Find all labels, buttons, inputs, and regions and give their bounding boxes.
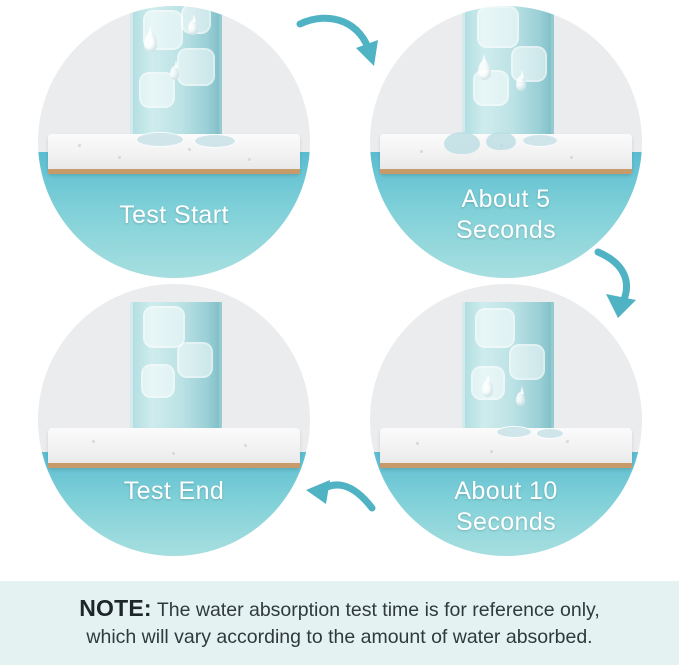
stage-label-about-5-seconds: About 5 Seconds — [370, 184, 642, 246]
stage-test-end: Test End — [38, 284, 310, 556]
water-puddle-icon — [536, 428, 564, 439]
note-label: NOTE: — [79, 595, 152, 621]
glass-icon — [130, 302, 222, 434]
ice-cube-icon — [143, 306, 185, 348]
water-puddle-icon — [522, 134, 558, 147]
ice-cube-icon — [141, 364, 175, 398]
stage-label-line: Seconds — [370, 215, 642, 246]
ice-cube-icon — [509, 344, 545, 380]
water-puddle-icon — [194, 134, 236, 148]
note-line-1: NOTE: The water absorption test time is … — [79, 595, 600, 624]
glass-icon — [462, 302, 554, 434]
note-text-line-1: The water absorption test time is for re… — [157, 599, 600, 621]
stage-label-line: Test Start — [38, 200, 310, 231]
note-line-2: which will vary according to the amount … — [79, 624, 600, 651]
stage-about-5-seconds: About 5 Seconds — [370, 6, 642, 278]
absorbed-water-patch — [444, 132, 480, 154]
slab-edge — [48, 169, 300, 174]
ice-cube-icon — [511, 46, 547, 82]
stage-label-test-start: Test Start — [38, 200, 310, 231]
arrow-top — [296, 14, 382, 80]
stage-label-line: Test End — [38, 476, 310, 507]
stage-label-line: Seconds — [370, 507, 642, 538]
ice-cube-icon — [475, 308, 515, 348]
water-drop-icon — [516, 392, 525, 406]
water-puddle-icon — [496, 426, 532, 438]
stage-test-start: Test Start — [38, 6, 310, 278]
water-drop-icon — [516, 76, 526, 91]
stage-label-test-end: Test End — [38, 476, 310, 507]
slab-edge — [380, 463, 632, 468]
countertop-slab — [48, 428, 300, 468]
note-bar: NOTE: The water absorption test time is … — [0, 581, 679, 665]
water-drop-icon — [170, 66, 179, 80]
slab-edge — [380, 169, 632, 174]
stage-label-line: About 10 — [370, 476, 642, 507]
glass-icon — [462, 6, 554, 146]
water-drop-icon — [482, 380, 493, 397]
water-drop-icon — [144, 32, 157, 52]
water-drop-icon — [188, 20, 198, 35]
absorbed-water-patch — [486, 132, 516, 150]
stage-label-about-10-seconds: About 10 Seconds — [370, 476, 642, 538]
stage-label-line: About 5 — [370, 184, 642, 215]
water-drop-icon — [478, 60, 491, 80]
slab-edge — [48, 463, 300, 468]
note-inner: NOTE: The water absorption test time is … — [65, 595, 614, 651]
arrow-bottom — [300, 470, 378, 518]
water-puddle-icon — [136, 132, 184, 147]
arrow-right — [588, 246, 650, 326]
stage-grid: Test Start About 5 Seconds — [0, 0, 679, 560]
ice-cube-icon — [177, 342, 213, 378]
ice-cube-icon — [177, 48, 215, 86]
ice-cube-icon — [477, 6, 519, 48]
